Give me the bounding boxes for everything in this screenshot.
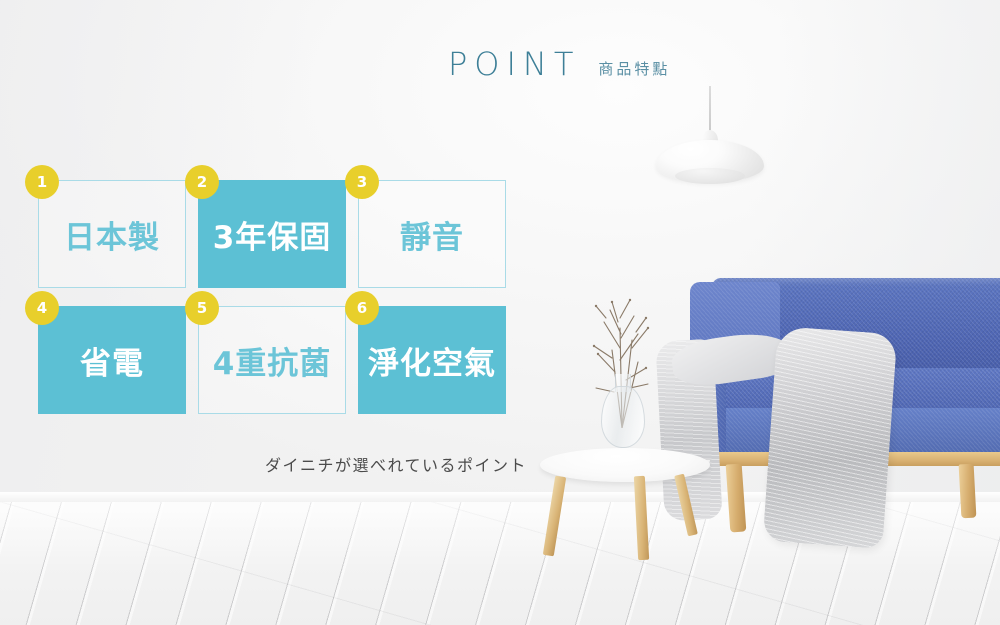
feature-item-3[interactable]: 3 靜音	[358, 180, 506, 288]
feature-box-4[interactable]: 省電	[38, 306, 186, 414]
feature-grid: 1 日本製 2 3年保固 3 靜音 4	[38, 180, 518, 414]
feature-row-1: 1 日本製 2 3年保固 3 靜音	[38, 180, 518, 288]
feature-item-2[interactable]: 2 3年保固	[198, 180, 346, 288]
lamp-shade-lip	[675, 168, 745, 184]
feature-item-1[interactable]: 1 日本製	[38, 180, 186, 288]
feature-row-2: 4 省電 5 4重抗菌 6 淨化空氣	[38, 306, 518, 414]
glass-vase-icon	[601, 386, 645, 448]
feature-item-4[interactable]: 4 省電	[38, 306, 186, 414]
feature-box-3[interactable]: 靜音	[358, 180, 506, 288]
lamp-cord-icon	[709, 86, 711, 134]
feature-item-6[interactable]: 6 淨化空氣	[358, 306, 506, 414]
page-title: POINT	[448, 48, 580, 80]
feature-label-3: 靜音	[400, 212, 464, 257]
feature-label-2: 3年保固	[213, 212, 332, 257]
feature-badge-1: 1	[25, 165, 59, 199]
page-subtitle: 商品特點	[598, 62, 670, 80]
product-feature-banner: POINT 商品特點 1 日本製 2 3年保固 3 靜音	[0, 0, 1000, 625]
tagline-caption: ダイニチが選べれているポイント	[265, 452, 527, 476]
feature-badge-6: 6	[345, 291, 379, 325]
feature-item-5[interactable]: 5 4重抗菌	[198, 306, 346, 414]
throw-blanket-icon	[763, 326, 898, 549]
feature-box-1[interactable]: 日本製	[38, 180, 186, 288]
feature-badge-3: 3	[345, 165, 379, 199]
feature-label-5: 4重抗菌	[213, 338, 332, 383]
feature-box-5[interactable]: 4重抗菌	[198, 306, 346, 414]
feature-box-2[interactable]: 3年保固	[198, 180, 346, 288]
feature-label-1: 日本製	[64, 212, 160, 257]
page-header: POINT 商品特點	[448, 48, 670, 80]
feature-badge-2: 2	[185, 165, 219, 199]
feature-label-4: 省電	[80, 338, 144, 383]
feature-badge-5: 5	[185, 291, 219, 325]
sofa-leg	[959, 464, 977, 519]
feature-box-6[interactable]: 淨化空氣	[358, 306, 506, 414]
feature-badge-4: 4	[25, 291, 59, 325]
feature-label-6: 淨化空氣	[368, 338, 496, 383]
